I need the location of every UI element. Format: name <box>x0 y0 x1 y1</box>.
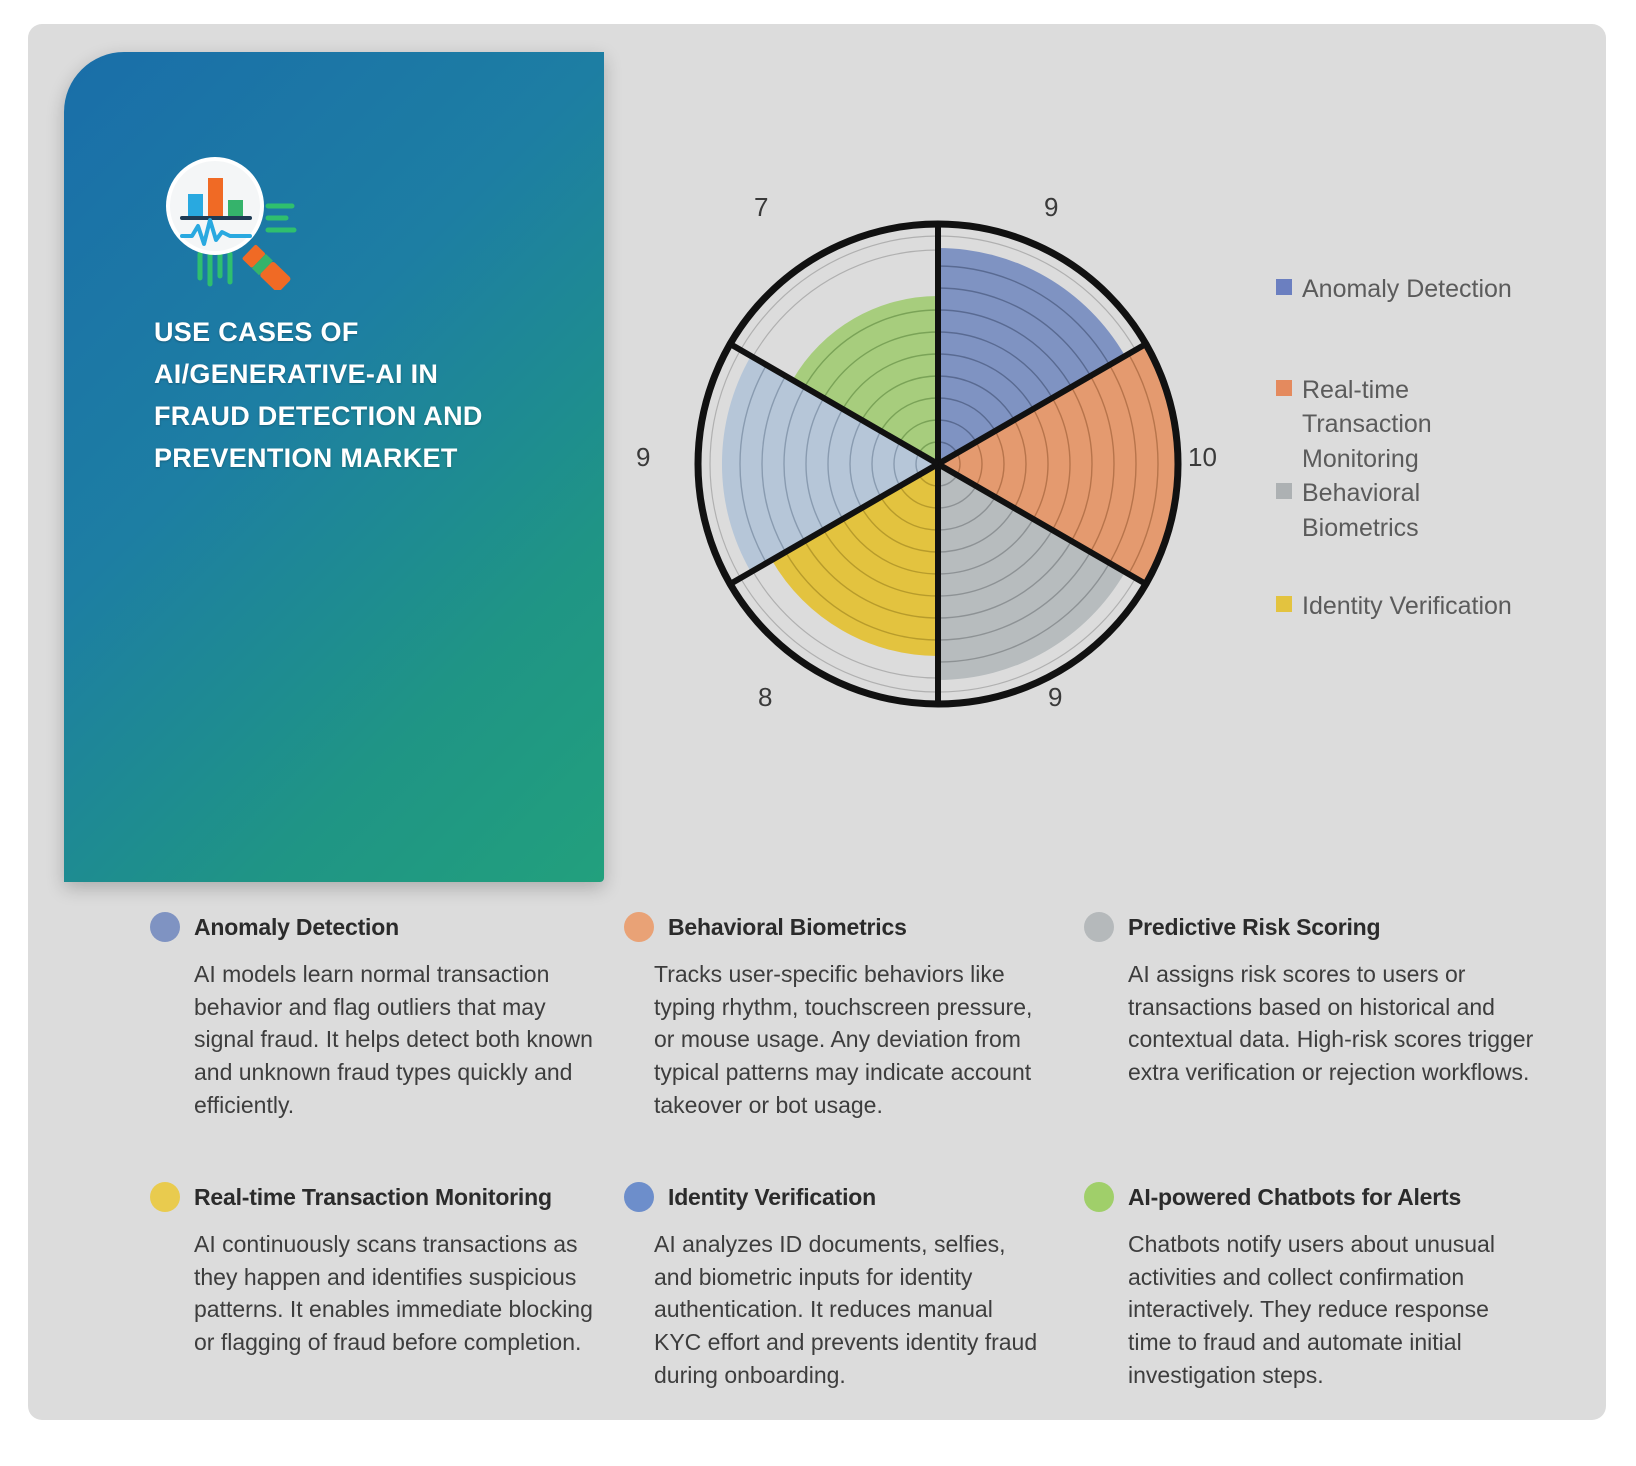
axis-label-top-left: 7 <box>754 192 768 223</box>
axis-label-right: 10 <box>1188 442 1217 473</box>
hero-title-line-1: USE CASES OF <box>154 312 554 354</box>
axis-label-bottom-right: 9 <box>1048 682 1062 713</box>
description-title: Behavioral Biometrics <box>668 914 907 941</box>
bullet-dot-icon <box>150 912 180 942</box>
description-ai-powered-chatbots: AI-powered Chatbots for Alerts Chatbots … <box>1084 1182 1534 1391</box>
legend-label-line-1: Behavioral <box>1302 479 1420 507</box>
description-title: Anomaly Detection <box>194 914 399 941</box>
description-body: AI analyzes ID documents, selfies, and b… <box>624 1228 1044 1391</box>
hero-title: USE CASES OF AI/GENERATIVE-AI IN FRAUD D… <box>154 312 554 479</box>
legend-item-behavioral-biometrics[interactable]: Behavioral Biometrics <box>1276 476 1576 545</box>
legend-item-identity-verification[interactable]: Identity Verification <box>1276 589 1576 624</box>
description-identity-verification: Identity Verification AI analyzes ID doc… <box>624 1182 1044 1391</box>
legend-item-realtime-transaction-monitoring[interactable]: Real-time Transaction Monitoring <box>1276 373 1576 477</box>
axis-label-left: 9 <box>636 442 650 473</box>
axis-label-bottom-left: 8 <box>758 682 772 713</box>
magnifier-analytics-icon <box>156 150 306 290</box>
legend-spacer <box>1276 307 1576 373</box>
rose-chart: 7 9 10 9 8 9 <box>658 184 1218 744</box>
legend-swatch-icon <box>1276 279 1292 295</box>
hero-title-line-4: PREVENTION MARKET <box>154 438 554 480</box>
description-body: AI models learn normal transaction behav… <box>150 958 610 1121</box>
description-realtime-transaction-monitoring: Real-time Transaction Monitoring AI cont… <box>150 1182 610 1359</box>
rose-chart-svg <box>658 184 1218 744</box>
legend-item-anomaly-detection[interactable]: Anomaly Detection <box>1276 272 1576 307</box>
chart-legend: Anomaly Detection Real-time Transaction … <box>1276 272 1576 624</box>
description-body: Tracks user-specific behaviors like typi… <box>624 958 1044 1121</box>
hero-title-line-2: AI/GENERATIVE-AI IN <box>154 354 554 396</box>
legend-label: Identity Verification <box>1302 589 1512 624</box>
legend-swatch-icon <box>1276 596 1292 612</box>
legend-swatch-icon <box>1276 483 1292 499</box>
description-title: Identity Verification <box>668 1184 876 1211</box>
legend-label-line-1: Real-time <box>1302 376 1409 404</box>
description-header: Behavioral Biometrics <box>624 912 1044 942</box>
infographic-page: USE CASES OF AI/GENERATIVE-AI IN FRAUD D… <box>0 0 1636 1466</box>
legend-spacer <box>1276 545 1576 589</box>
description-body: Chatbots notify users about unusual acti… <box>1084 1228 1534 1391</box>
legend-label: Behavioral Biometrics <box>1302 476 1420 545</box>
legend-label: Real-time Transaction Monitoring <box>1302 373 1432 477</box>
legend-label-line-2: Transaction <box>1302 410 1432 438</box>
description-header: AI-powered Chatbots for Alerts <box>1084 1182 1534 1212</box>
legend-label: Anomaly Detection <box>1302 272 1512 307</box>
description-grid: Anomaly Detection AI models learn normal… <box>64 904 1620 1424</box>
description-title: AI-powered Chatbots for Alerts <box>1128 1184 1461 1211</box>
hero-card: USE CASES OF AI/GENERATIVE-AI IN FRAUD D… <box>64 52 604 882</box>
axis-label-top-right: 9 <box>1044 192 1058 223</box>
bullet-dot-icon <box>1084 1182 1114 1212</box>
legend-label-line-3: Monitoring <box>1302 445 1419 473</box>
bullet-dot-icon <box>150 1182 180 1212</box>
bullet-dot-icon <box>624 1182 654 1212</box>
hero-title-line-3: FRAUD DETECTION AND <box>154 396 554 438</box>
description-header: Predictive Risk Scoring <box>1084 912 1534 942</box>
description-title: Real-time Transaction Monitoring <box>194 1184 552 1211</box>
bullet-dot-icon <box>624 912 654 942</box>
description-body: AI continuously scans transactions as th… <box>150 1228 610 1359</box>
legend-swatch-icon <box>1276 380 1292 396</box>
description-header: Real-time Transaction Monitoring <box>150 1182 610 1212</box>
main-panel: USE CASES OF AI/GENERATIVE-AI IN FRAUD D… <box>28 24 1606 1420</box>
bullet-dot-icon <box>1084 912 1114 942</box>
description-anomaly-detection: Anomaly Detection AI models learn normal… <box>150 912 610 1121</box>
description-behavioral-biometrics: Behavioral Biometrics Tracks user-specif… <box>624 912 1044 1121</box>
description-body: AI assigns risk scores to users or trans… <box>1084 958 1534 1089</box>
description-predictive-risk-scoring: Predictive Risk Scoring AI assigns risk … <box>1084 912 1534 1089</box>
legend-label-line-2: Biometrics <box>1302 514 1419 542</box>
description-header: Identity Verification <box>624 1182 1044 1212</box>
description-header: Anomaly Detection <box>150 912 610 942</box>
description-title: Predictive Risk Scoring <box>1128 914 1380 941</box>
